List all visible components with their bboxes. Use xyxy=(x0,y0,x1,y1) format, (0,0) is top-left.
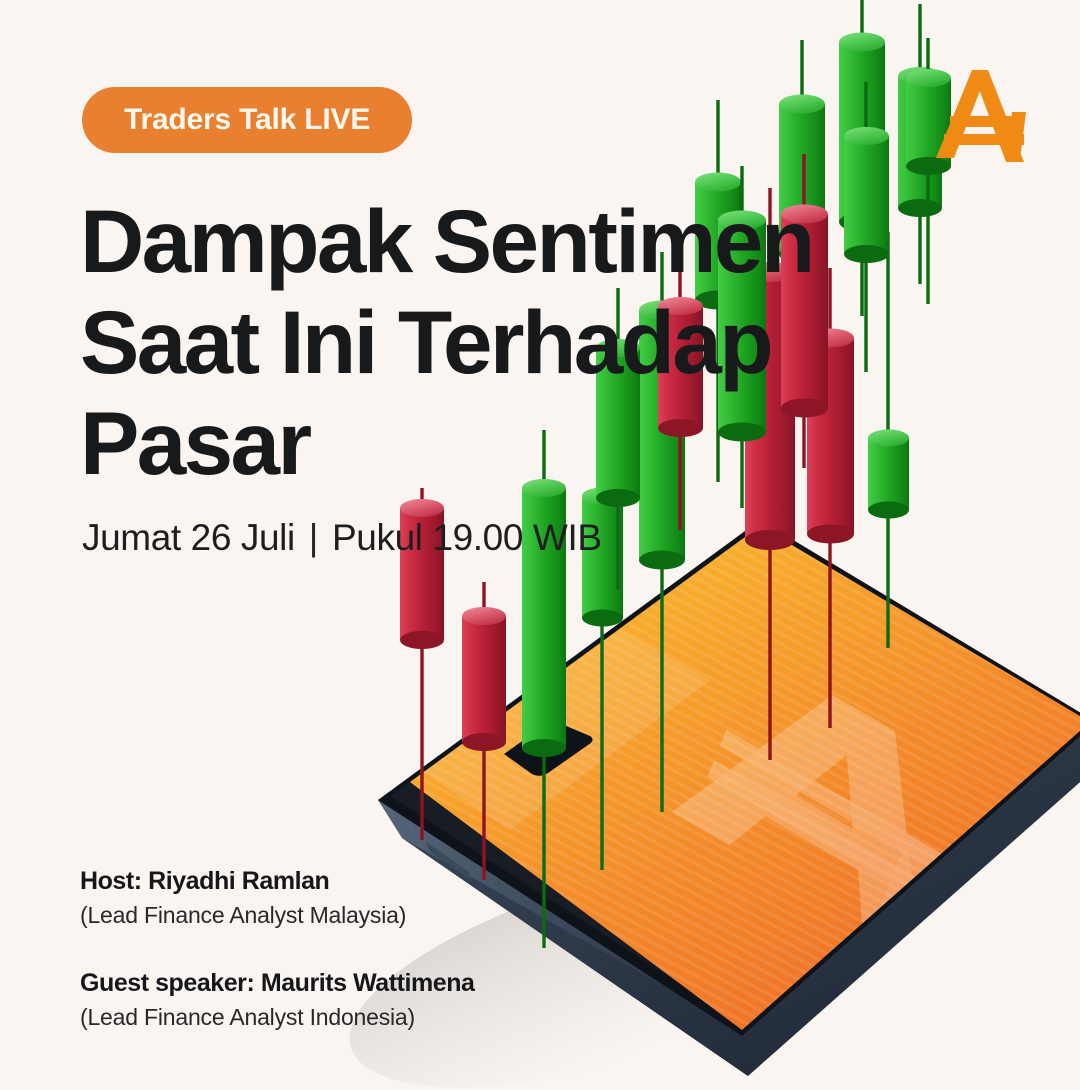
live-badge-label: Traders Talk LIVE xyxy=(124,103,370,137)
candle-17 xyxy=(844,82,889,372)
speaker-credits: Host: Riyadhi Ramlan (Lead Finance Analy… xyxy=(80,866,600,1033)
brand-logo-icon xyxy=(928,58,1040,170)
schedule-time: Pukul 19.00 WIB xyxy=(332,517,602,559)
credit-guest: Guest speaker: Maurits Wattimena (Lead F… xyxy=(80,968,600,1033)
headline-line-2: Saat Ini Terhadap xyxy=(80,292,840,393)
headline-line-1: Dampak Sentimen xyxy=(80,191,840,292)
live-badge[interactable]: Traders Talk LIVE xyxy=(82,87,412,153)
credit-host-name: Host: Riyadhi Ramlan xyxy=(80,866,600,897)
schedule-line: Jumat 26 Juli | Pukul 19.00 WIB xyxy=(82,517,602,559)
credit-guest-role: (Lead Finance Analyst Indonesia) xyxy=(80,1002,600,1033)
credit-host: Host: Riyadhi Ramlan (Lead Finance Analy… xyxy=(80,866,600,931)
credit-host-role: (Lead Finance Analyst Malaysia) xyxy=(80,900,600,931)
poster-canvas: Traders Talk LIVE Dampak Sentimen Saat I… xyxy=(0,0,1080,1080)
schedule-date: Jumat 26 Juli xyxy=(82,517,295,559)
headline-line-3: Pasar xyxy=(80,393,840,494)
schedule-separator: | xyxy=(309,517,318,559)
page-title: Dampak Sentimen Saat Ini Terhadap Pasar xyxy=(80,191,840,494)
credit-guest-name: Guest speaker: Maurits Wattimena xyxy=(80,968,600,999)
